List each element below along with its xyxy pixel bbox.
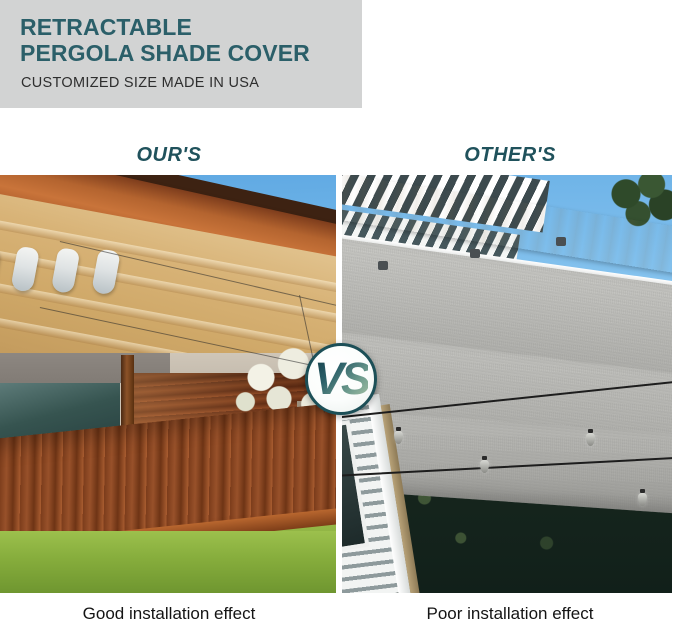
page-title: RETRACTABLE PERGOLA SHADE COVER bbox=[20, 14, 362, 66]
shade-clip-hardware bbox=[378, 261, 388, 270]
versus-badge: VS bbox=[305, 343, 377, 415]
caption-good-installation: Good installation effect bbox=[0, 604, 338, 624]
lawn-front bbox=[0, 531, 336, 593]
header-banner: RETRACTABLE PERGOLA SHADE COVER CUSTOMIZ… bbox=[0, 0, 362, 108]
carrier-tab bbox=[51, 247, 81, 294]
carrier-tab bbox=[91, 248, 121, 295]
carrier-tab bbox=[10, 246, 40, 293]
carrier-tab bbox=[0, 246, 1, 293]
shade-clip-hardware bbox=[470, 249, 480, 258]
shade-clip-hardware bbox=[556, 237, 566, 246]
caption-poor-installation: Poor installation effect bbox=[341, 604, 679, 624]
column-label-others: OTHER'S bbox=[341, 144, 679, 167]
photo-poor-installation bbox=[342, 175, 672, 593]
page-subtitle: CUSTOMIZED SIZE MADE IN USA bbox=[21, 75, 362, 91]
photo-good-installation bbox=[0, 175, 336, 593]
versus-label: VS bbox=[314, 356, 368, 401]
column-label-ours: OUR'S bbox=[0, 144, 338, 167]
